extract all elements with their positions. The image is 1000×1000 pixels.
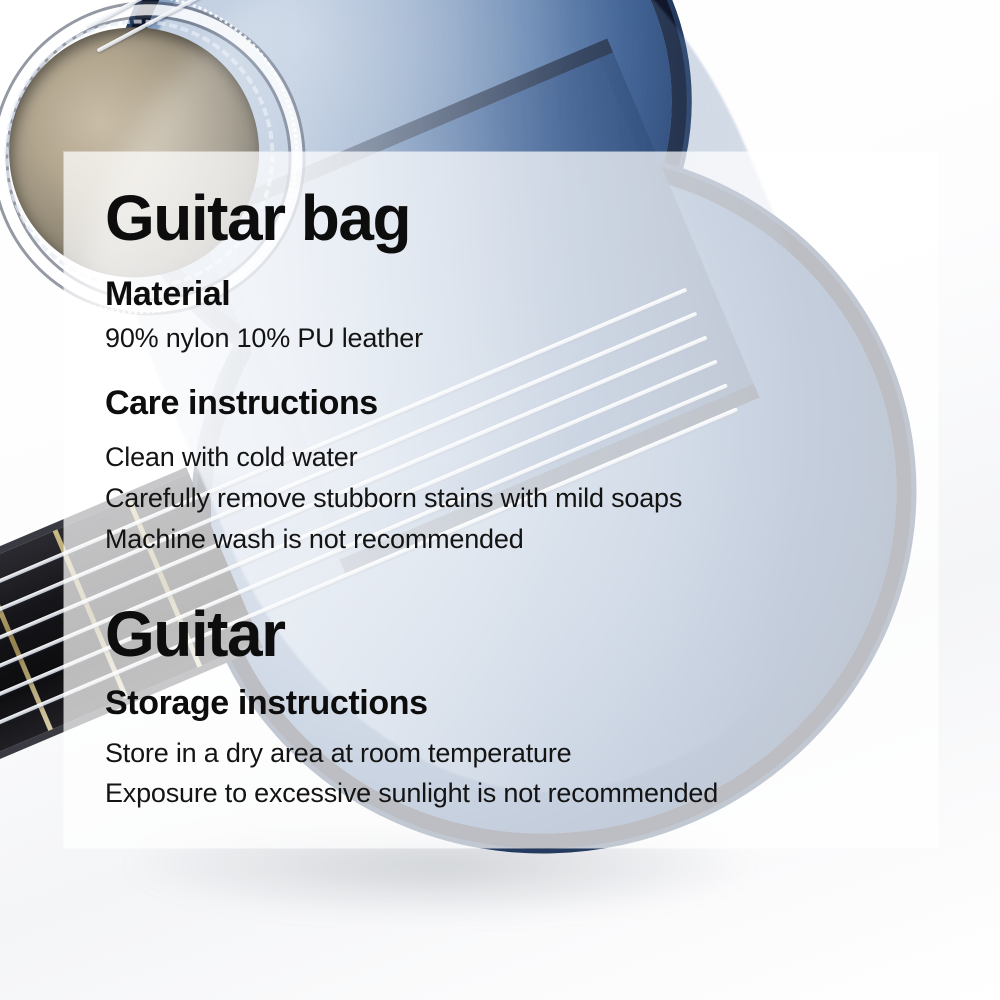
care-line-3: Machine wash is not recommended [105, 526, 524, 553]
heading-storage-instructions: Storage instructions [105, 686, 428, 720]
string [96, 0, 469, 53]
product-image: Guitar bag Material 90% nylon 10% PU lea… [0, 0, 1000, 1000]
care-line-2: Carefully remove stubborn stains with mi… [105, 485, 682, 512]
material-line-1: 90% nylon 10% PU leather [105, 325, 423, 352]
storage-line-2: Exposure to excessive sunlight is not re… [105, 780, 718, 807]
care-line-1: Clean with cold water [105, 444, 357, 471]
heading-material: Material [105, 277, 230, 311]
heading-care-instructions: Care instructions [105, 386, 378, 420]
section-title-guitar-bag: Guitar bag [105, 186, 410, 250]
section-title-guitar: Guitar [105, 602, 284, 666]
storage-line-1: Store in a dry area at room temperature [105, 740, 571, 767]
